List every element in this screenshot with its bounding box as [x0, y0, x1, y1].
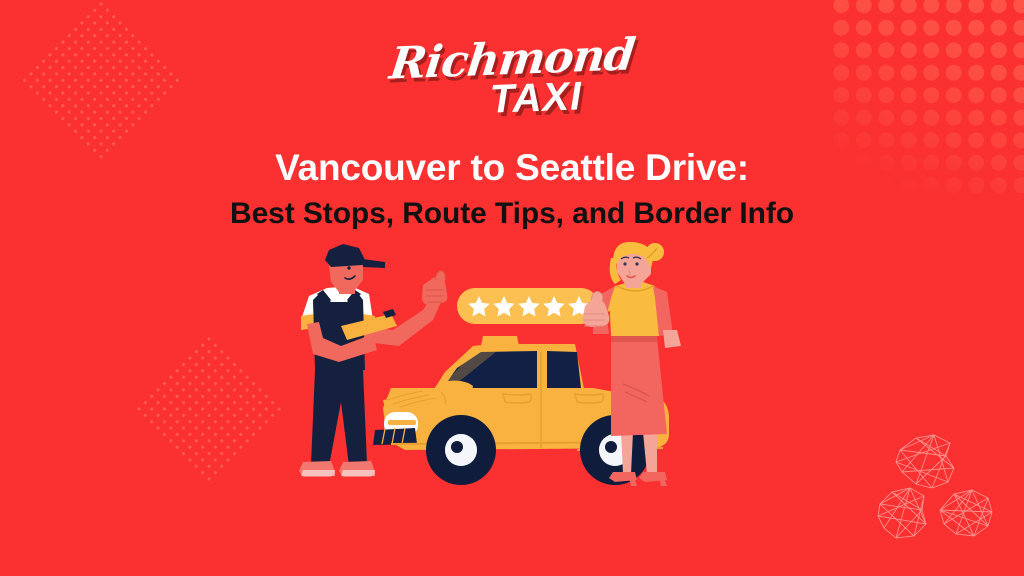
taxi-rear-window — [547, 351, 581, 388]
passenger-leg-back — [621, 432, 633, 474]
taxi-front-wheel — [426, 415, 496, 485]
blob-lower-left — [878, 488, 926, 538]
driver-cap — [325, 244, 365, 267]
driver-eye — [347, 266, 350, 269]
passenger-forearm-right — [663, 330, 681, 348]
taxi-headlight-stripe — [388, 420, 416, 425]
blob-upper — [896, 435, 954, 488]
passenger-eye-left — [623, 262, 626, 265]
taxi-illustration — [245, 242, 765, 522]
passenger-top — [609, 280, 659, 336]
passenger-skirt — [611, 338, 667, 436]
wireframe-blobs-bottom-right — [876, 418, 1012, 550]
blob-lower-right — [940, 490, 992, 536]
page-title-line-2: Best Stops, Route Tips, and Border Info — [0, 191, 1024, 236]
passenger-neck — [625, 280, 641, 288]
passenger-hair-bun — [646, 243, 664, 261]
driver-shoe-right-sole — [341, 470, 375, 476]
passenger-eye-right — [635, 262, 638, 265]
driver-shoe-left-sole — [301, 470, 335, 476]
driver-cap-brim — [363, 259, 385, 268]
blog-hero-banner: Richmond TAXI Vancouver to Seattle Drive… — [0, 0, 1024, 576]
richmond-taxi-logo: Richmond TAXI — [0, 38, 1024, 118]
page-title: Vancouver to Seattle Drive: Best Stops, … — [0, 145, 1024, 236]
driver-trousers — [311, 370, 367, 466]
driver-thumb — [435, 271, 445, 281]
page-title-line-1: Vancouver to Seattle Drive: — [0, 145, 1024, 191]
